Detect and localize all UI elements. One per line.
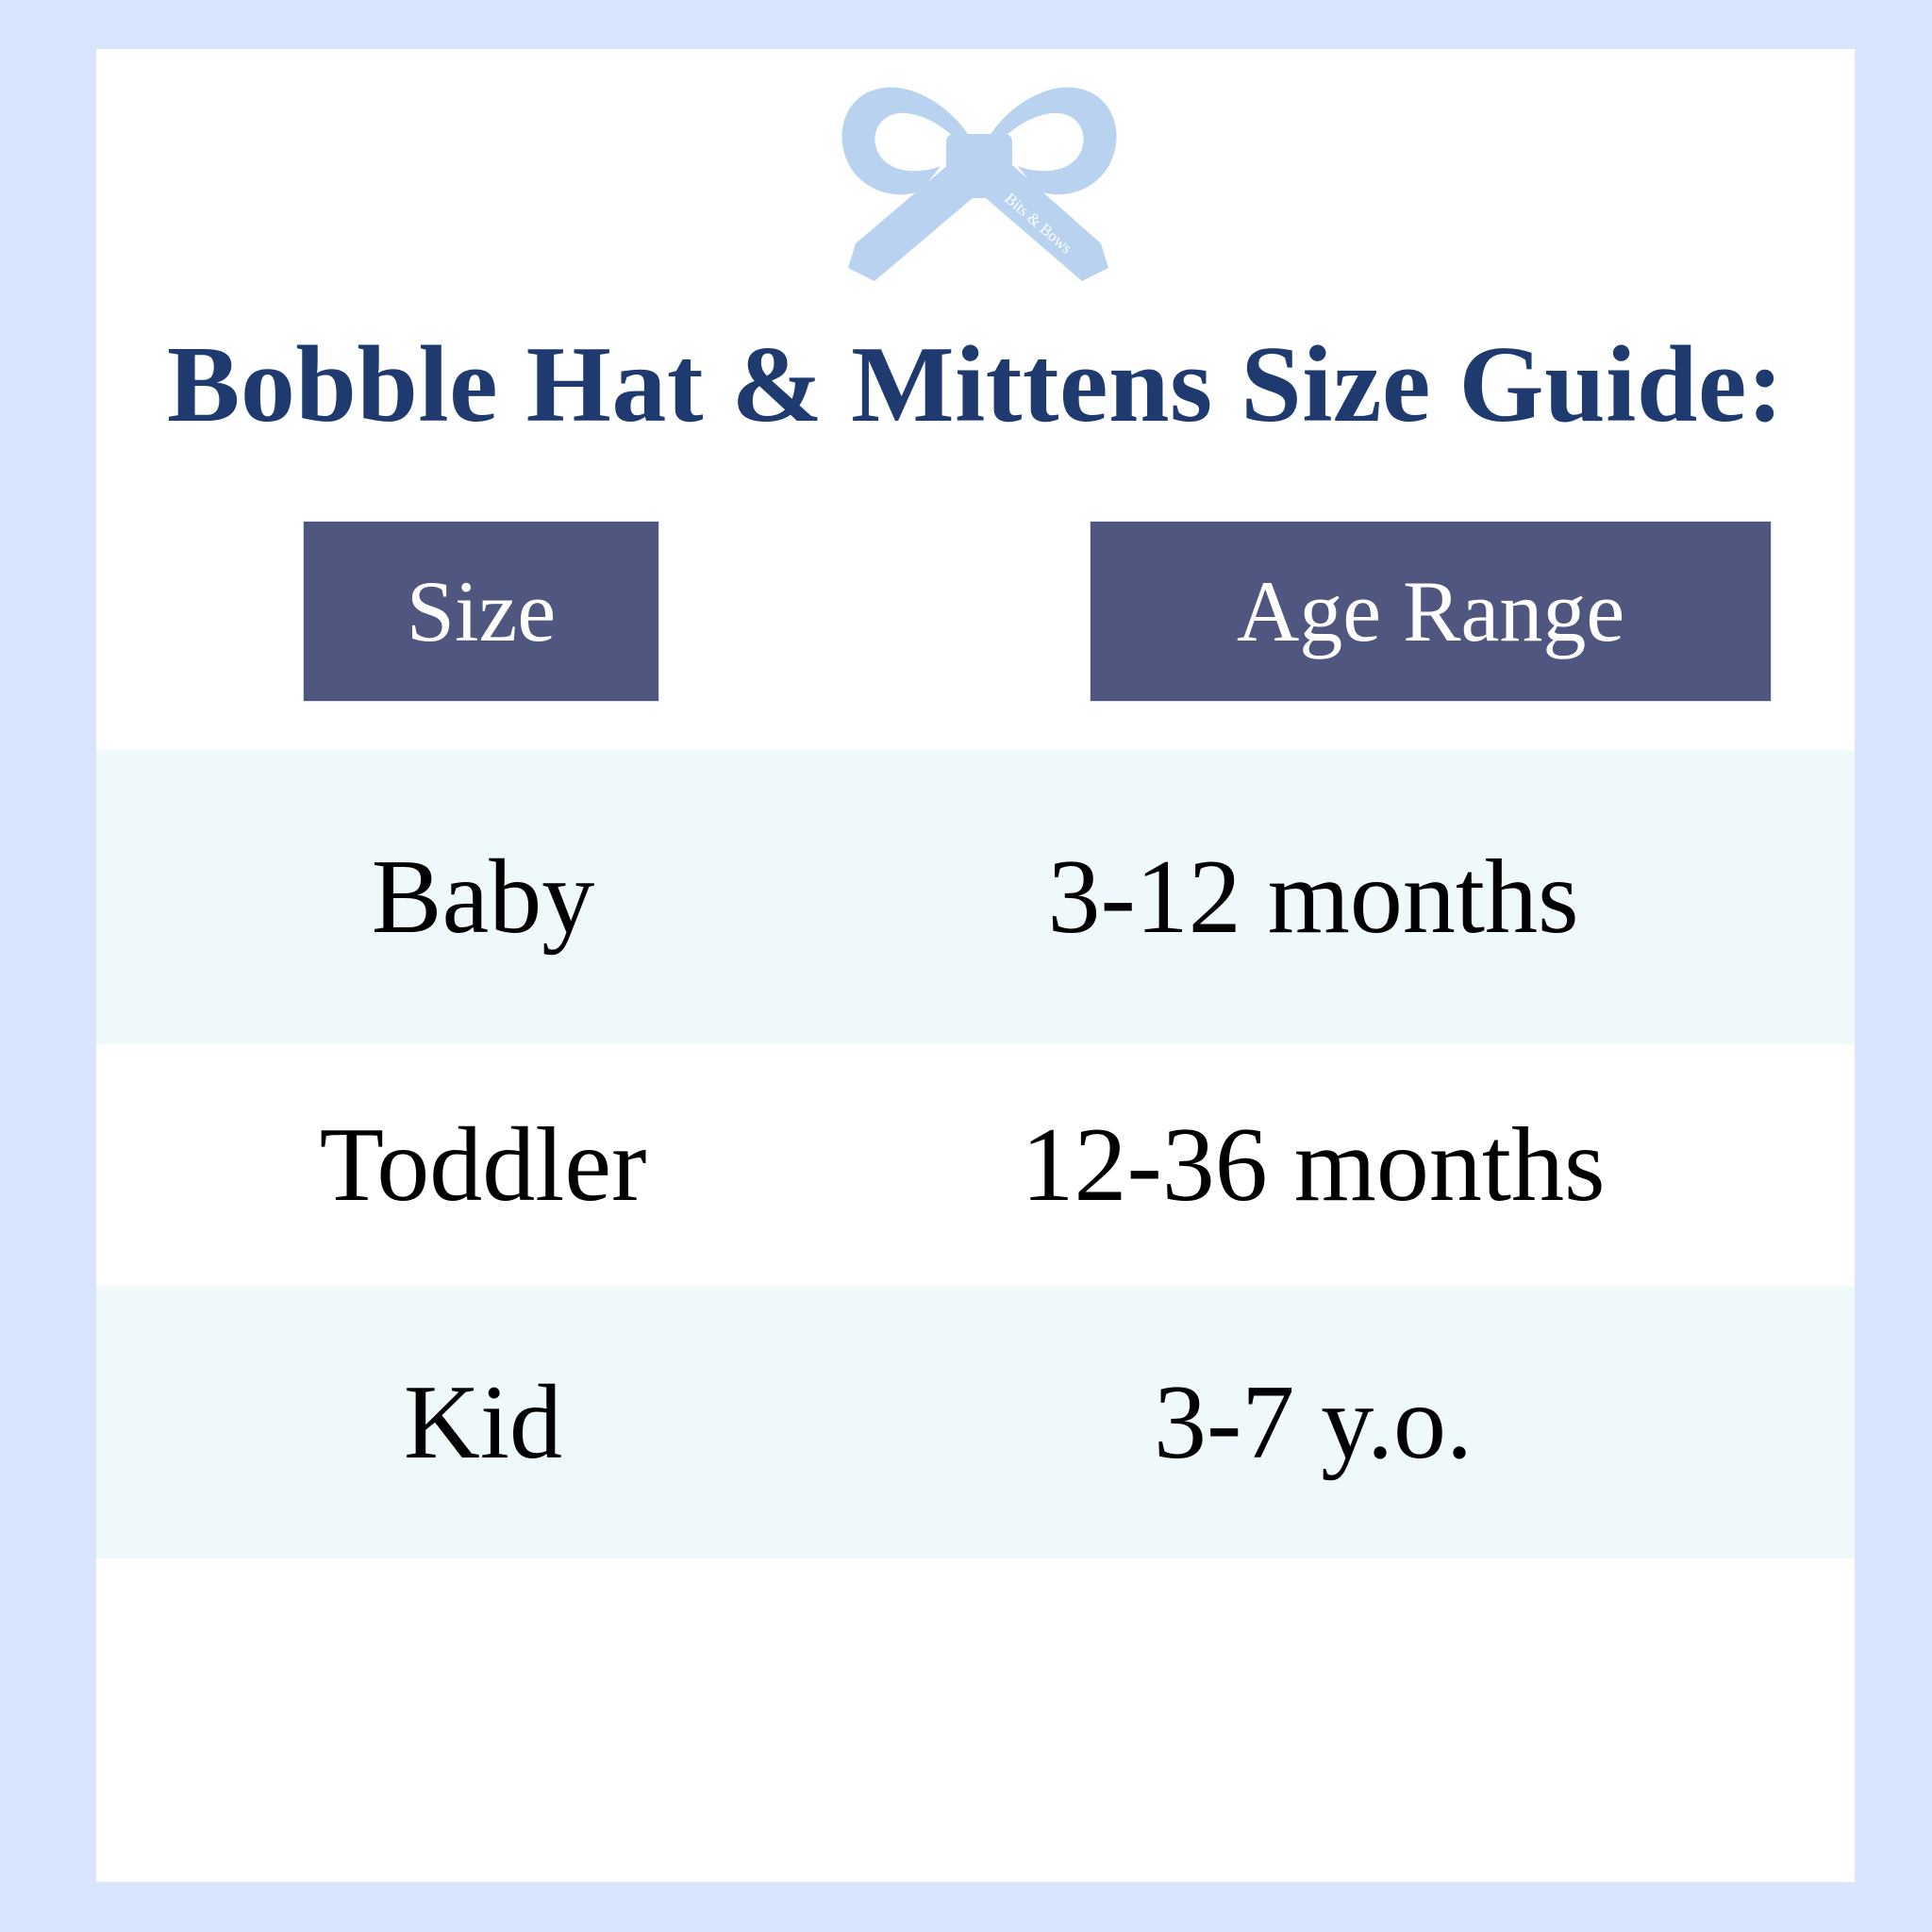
column-header-age-range-label: Age Range — [1237, 568, 1624, 655]
size-guide-card: Bits & Bows Bobble Hat & Mittens Size Gu… — [96, 49, 1855, 1882]
size-table-body: Baby 3-12 months Toddler 12-36 months Ki… — [96, 750, 1855, 1882]
column-header-size-label: Size — [407, 568, 556, 655]
column-header-size: Size — [304, 522, 658, 701]
cell-age-range: 3-12 months — [945, 844, 1681, 950]
cell-age-range: 12-36 months — [945, 1112, 1681, 1218]
cell-age-range: 3-7 y.o. — [945, 1370, 1681, 1475]
page-title: Bobble Hat & Mittens Size Guide: — [96, 323, 1855, 448]
table-row-empty — [96, 1558, 1855, 1882]
cell-size: Toddler — [209, 1112, 757, 1218]
brand-logo: Bits & Bows — [96, 58, 1855, 294]
cell-size: Kid — [209, 1370, 757, 1475]
bow-icon: Bits & Bows — [829, 68, 1122, 285]
table-row: Baby 3-12 months — [96, 750, 1855, 1044]
size-guide-page: Bits & Bows Bobble Hat & Mittens Size Gu… — [0, 0, 1932, 1932]
column-header-age-range: Age Range — [1091, 522, 1771, 701]
table-row: Kid 3-7 y.o. — [96, 1286, 1855, 1558]
table-row: Toddler 12-36 months — [96, 1044, 1855, 1286]
cell-size: Baby — [209, 844, 757, 950]
